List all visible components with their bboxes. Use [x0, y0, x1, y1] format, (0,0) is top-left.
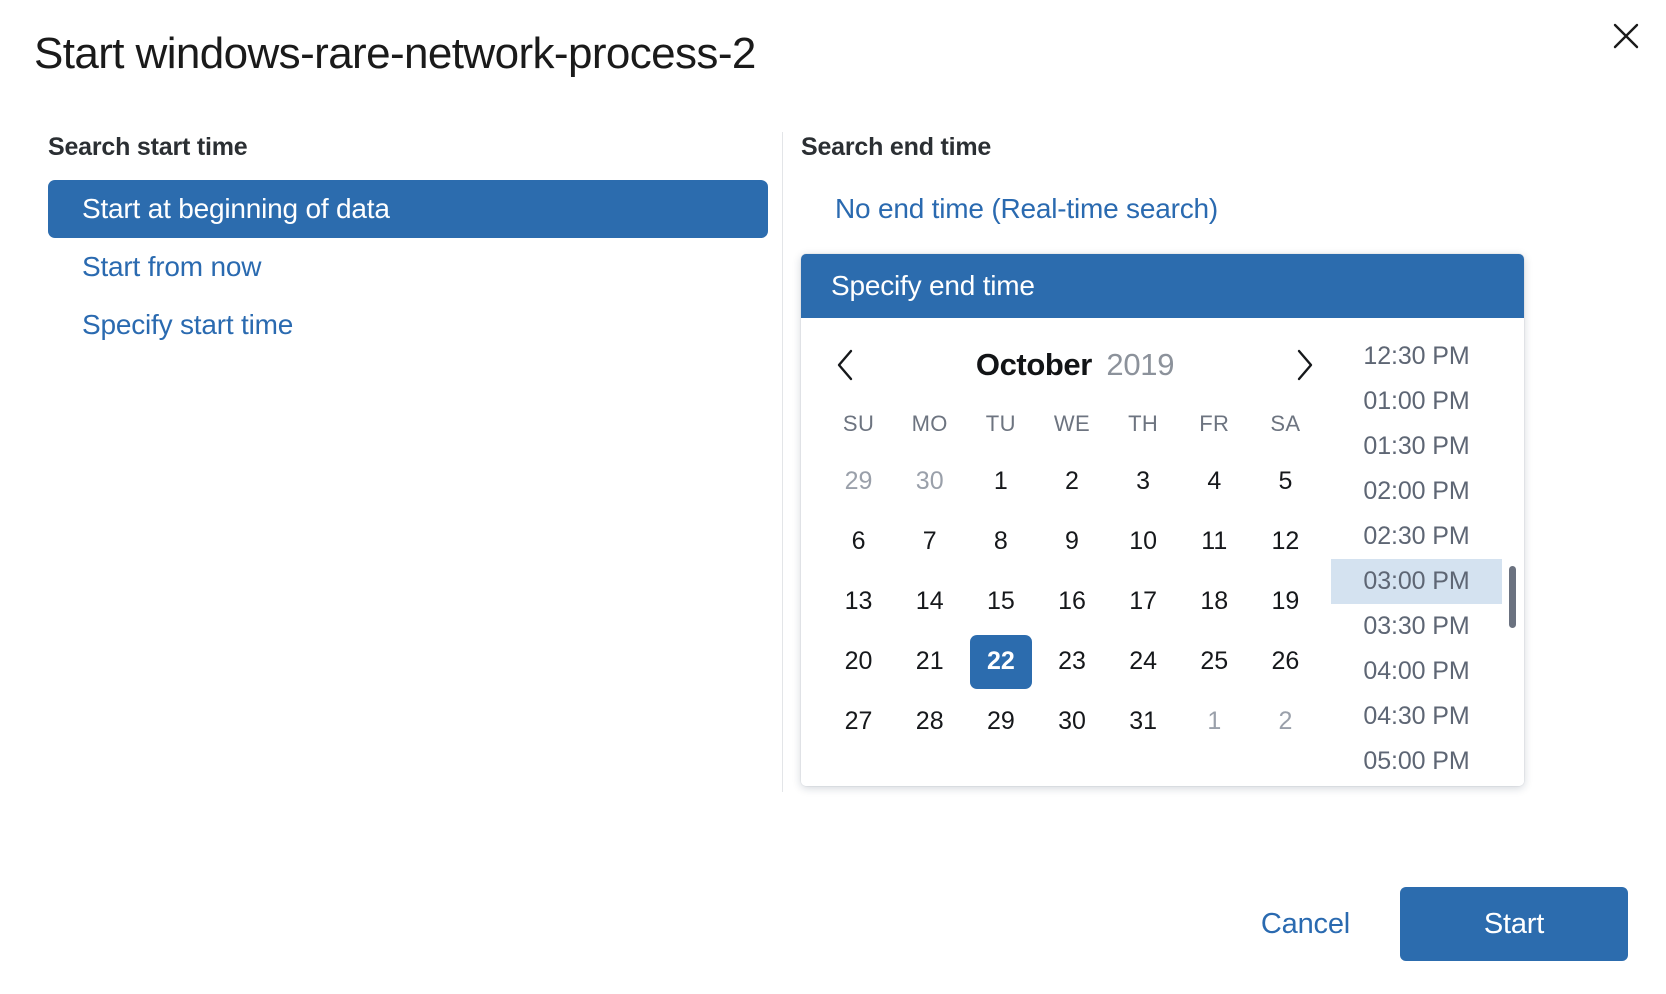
calendar-day[interactable]: 18 — [1179, 572, 1250, 632]
calendar-day-label: 7 — [899, 515, 961, 569]
calendar-day-label: 1 — [1183, 695, 1245, 749]
calendar-day-label: 16 — [1041, 575, 1103, 629]
calendar-day-label: 17 — [1112, 575, 1174, 629]
calendar-day[interactable]: 10 — [1108, 512, 1179, 572]
calendar-day-label: 19 — [1254, 575, 1316, 629]
calendar-day-label: 29 — [970, 695, 1032, 749]
calendar-day[interactable]: 3 — [1108, 452, 1179, 512]
calendar-day[interactable]: 28 — [894, 692, 965, 752]
time-list-scrollbar-track[interactable] — [1509, 334, 1516, 786]
calendar-day[interactable]: 2 — [1036, 452, 1107, 512]
cancel-button[interactable]: Cancel — [1255, 898, 1356, 951]
time-list-scrollbar-thumb[interactable] — [1509, 566, 1516, 628]
start-option-specify-start-time[interactable]: Specify start time — [48, 296, 768, 354]
start-option-from-now[interactable]: Start from now — [48, 238, 768, 296]
calendar-day[interactable]: 21 — [894, 632, 965, 692]
calendar-day-label: 3 — [1112, 455, 1174, 509]
calendar-dow: WE — [1036, 396, 1107, 452]
picker-body: October 2019 SU MO — [801, 318, 1524, 786]
calendar-day-label: 9 — [1041, 515, 1103, 569]
calendar-day-label: 29 — [828, 455, 890, 509]
calendar-day[interactable]: 16 — [1036, 572, 1107, 632]
calendar-day[interactable]: 12 — [1250, 512, 1321, 572]
calendar-day[interactable]: 17 — [1108, 572, 1179, 632]
start-search-dialog: Start windows-rare-network-process-2 Sea… — [0, 0, 1666, 994]
end-option-no-end-time[interactable]: No end time (Real-time search) — [801, 180, 1666, 238]
calendar-day-label: 11 — [1183, 515, 1245, 569]
calendar-day-label: 14 — [899, 575, 961, 629]
time-list-item[interactable]: 03:00 PM — [1331, 559, 1502, 604]
calendar-day[interactable]: 27 — [823, 692, 894, 752]
calendar-day-label: 24 — [1112, 635, 1174, 689]
calendar-day-label: 18 — [1183, 575, 1245, 629]
end-option-no-end-time-label: No end time (Real-time search) — [835, 193, 1218, 224]
calendar-day-label: 13 — [828, 575, 890, 629]
calendar-day[interactable]: 31 — [1108, 692, 1179, 752]
start-option-specify-start-time-label: Specify start time — [82, 309, 293, 340]
calendar-day-label: 6 — [828, 515, 890, 569]
start-option-from-now-label: Start from now — [82, 251, 261, 282]
end-time-picker: Specify end time October — [801, 254, 1524, 786]
calendar-day[interactable]: 9 — [1036, 512, 1107, 572]
calendar-dow: MO — [894, 396, 965, 452]
search-end-time-panel: Search end time No end time (Real-time s… — [783, 132, 1666, 812]
calendar-day[interactable]: 11 — [1179, 512, 1250, 572]
calendar-day[interactable]: 29 — [823, 452, 894, 512]
chevron-left-icon[interactable] — [823, 342, 869, 388]
calendar-day-label: 31 — [1112, 695, 1174, 749]
calendar-day[interactable]: 20 — [823, 632, 894, 692]
calendar-day-label: 2 — [1254, 695, 1316, 749]
calendar-day-label: 30 — [899, 455, 961, 509]
calendar-dow: SU — [823, 396, 894, 452]
calendar-year-label: 2019 — [1106, 347, 1174, 382]
calendar-month-year: October 2019 — [869, 347, 1281, 383]
calendar-day-label: 28 — [899, 695, 961, 749]
calendar-day[interactable]: 30 — [894, 452, 965, 512]
dialog-title: Start windows-rare-network-process-2 — [34, 28, 756, 81]
calendar-day[interactable]: 1 — [1179, 692, 1250, 752]
time-list-item[interactable]: 01:30 PM — [1331, 424, 1502, 469]
calendar-day[interactable]: 7 — [894, 512, 965, 572]
calendar-day[interactable]: 2 — [1250, 692, 1321, 752]
calendar: October 2019 SU MO — [801, 318, 1331, 786]
calendar-day-label: 30 — [1041, 695, 1103, 749]
calendar-nav: October 2019 — [823, 334, 1321, 396]
calendar-day-label: 23 — [1041, 635, 1103, 689]
time-list-panel: 12:30 PM01:00 PM01:30 PM02:00 PM02:30 PM… — [1331, 318, 1524, 786]
calendar-day-label: 12 — [1254, 515, 1316, 569]
calendar-day[interactable]: 22 — [965, 632, 1036, 692]
end-option-specify-end-time[interactable]: Specify end time — [801, 254, 1524, 318]
calendar-day[interactable]: 23 — [1036, 632, 1107, 692]
calendar-day[interactable]: 19 — [1250, 572, 1321, 632]
search-start-time-panel: Search start time Start at beginning of … — [0, 132, 782, 812]
time-list[interactable]: 12:30 PM01:00 PM01:30 PM02:00 PM02:30 PM… — [1331, 334, 1524, 786]
start-option-beginning-of-data-label: Start at beginning of data — [82, 193, 390, 224]
start-option-beginning-of-data[interactable]: Start at beginning of data — [48, 180, 768, 238]
calendar-day-label: 20 — [828, 635, 890, 689]
calendar-day-label: 26 — [1254, 635, 1316, 689]
calendar-dow: TH — [1108, 396, 1179, 452]
calendar-day[interactable]: 14 — [894, 572, 965, 632]
calendar-day[interactable]: 4 — [1179, 452, 1250, 512]
time-list-item[interactable]: 01:00 PM — [1331, 379, 1502, 424]
close-icon[interactable] — [1604, 14, 1648, 58]
calendar-day[interactable]: 25 — [1179, 632, 1250, 692]
search-end-time-label: Search end time — [801, 132, 1666, 162]
dialog-body: Search start time Start at beginning of … — [0, 132, 1666, 812]
calendar-day-label: 25 — [1183, 635, 1245, 689]
calendar-day[interactable]: 26 — [1250, 632, 1321, 692]
start-button[interactable]: Start — [1400, 887, 1628, 961]
calendar-month-label: October — [976, 347, 1092, 382]
search-start-time-label: Search start time — [48, 132, 764, 162]
calendar-day-label: 8 — [970, 515, 1032, 569]
calendar-day[interactable]: 6 — [823, 512, 894, 572]
calendar-dow: SA — [1250, 396, 1321, 452]
time-list-item[interactable]: 04:00 PM — [1331, 649, 1502, 694]
calendar-day-label: 27 — [828, 695, 890, 749]
time-list-item[interactable]: 02:30 PM — [1331, 514, 1502, 559]
end-option-specify-end-time-label: Specify end time — [831, 270, 1035, 301]
calendar-day-label: 5 — [1254, 455, 1316, 509]
calendar-days: 2930123456789101112131415161718192021222… — [823, 452, 1321, 752]
calendar-dow: FR — [1179, 396, 1250, 452]
time-list-item[interactable]: 05:00 PM — [1331, 739, 1502, 784]
calendar-day[interactable]: 24 — [1108, 632, 1179, 692]
calendar-day[interactable]: 5 — [1250, 452, 1321, 512]
time-list-item[interactable]: 03:30 PM — [1331, 604, 1502, 649]
time-list-item[interactable]: 02:00 PM — [1331, 469, 1502, 514]
time-list-item[interactable]: 12:30 PM — [1331, 334, 1502, 379]
calendar-day[interactable]: 13 — [823, 572, 894, 632]
calendar-day-label: 15 — [970, 575, 1032, 629]
calendar-day-label: 21 — [899, 635, 961, 689]
calendar-day-label: 2 — [1041, 455, 1103, 509]
calendar-day[interactable]: 8 — [965, 512, 1036, 572]
calendar-day-label: 1 — [970, 455, 1032, 509]
calendar-grid: SU MO TU WE TH FR SA — [823, 396, 1321, 452]
dialog-footer: Cancel Start — [0, 854, 1666, 994]
calendar-day[interactable]: 30 — [1036, 692, 1107, 752]
chevron-right-icon[interactable] — [1281, 342, 1327, 388]
calendar-day[interactable]: 15 — [965, 572, 1036, 632]
calendar-day-label: 4 — [1183, 455, 1245, 509]
calendar-day[interactable]: 29 — [965, 692, 1036, 752]
calendar-dow: TU — [965, 396, 1036, 452]
time-list-item[interactable]: 04:30 PM — [1331, 694, 1502, 739]
calendar-day-label: 22 — [970, 635, 1032, 689]
calendar-day[interactable]: 1 — [965, 452, 1036, 512]
calendar-day-label: 10 — [1112, 515, 1174, 569]
